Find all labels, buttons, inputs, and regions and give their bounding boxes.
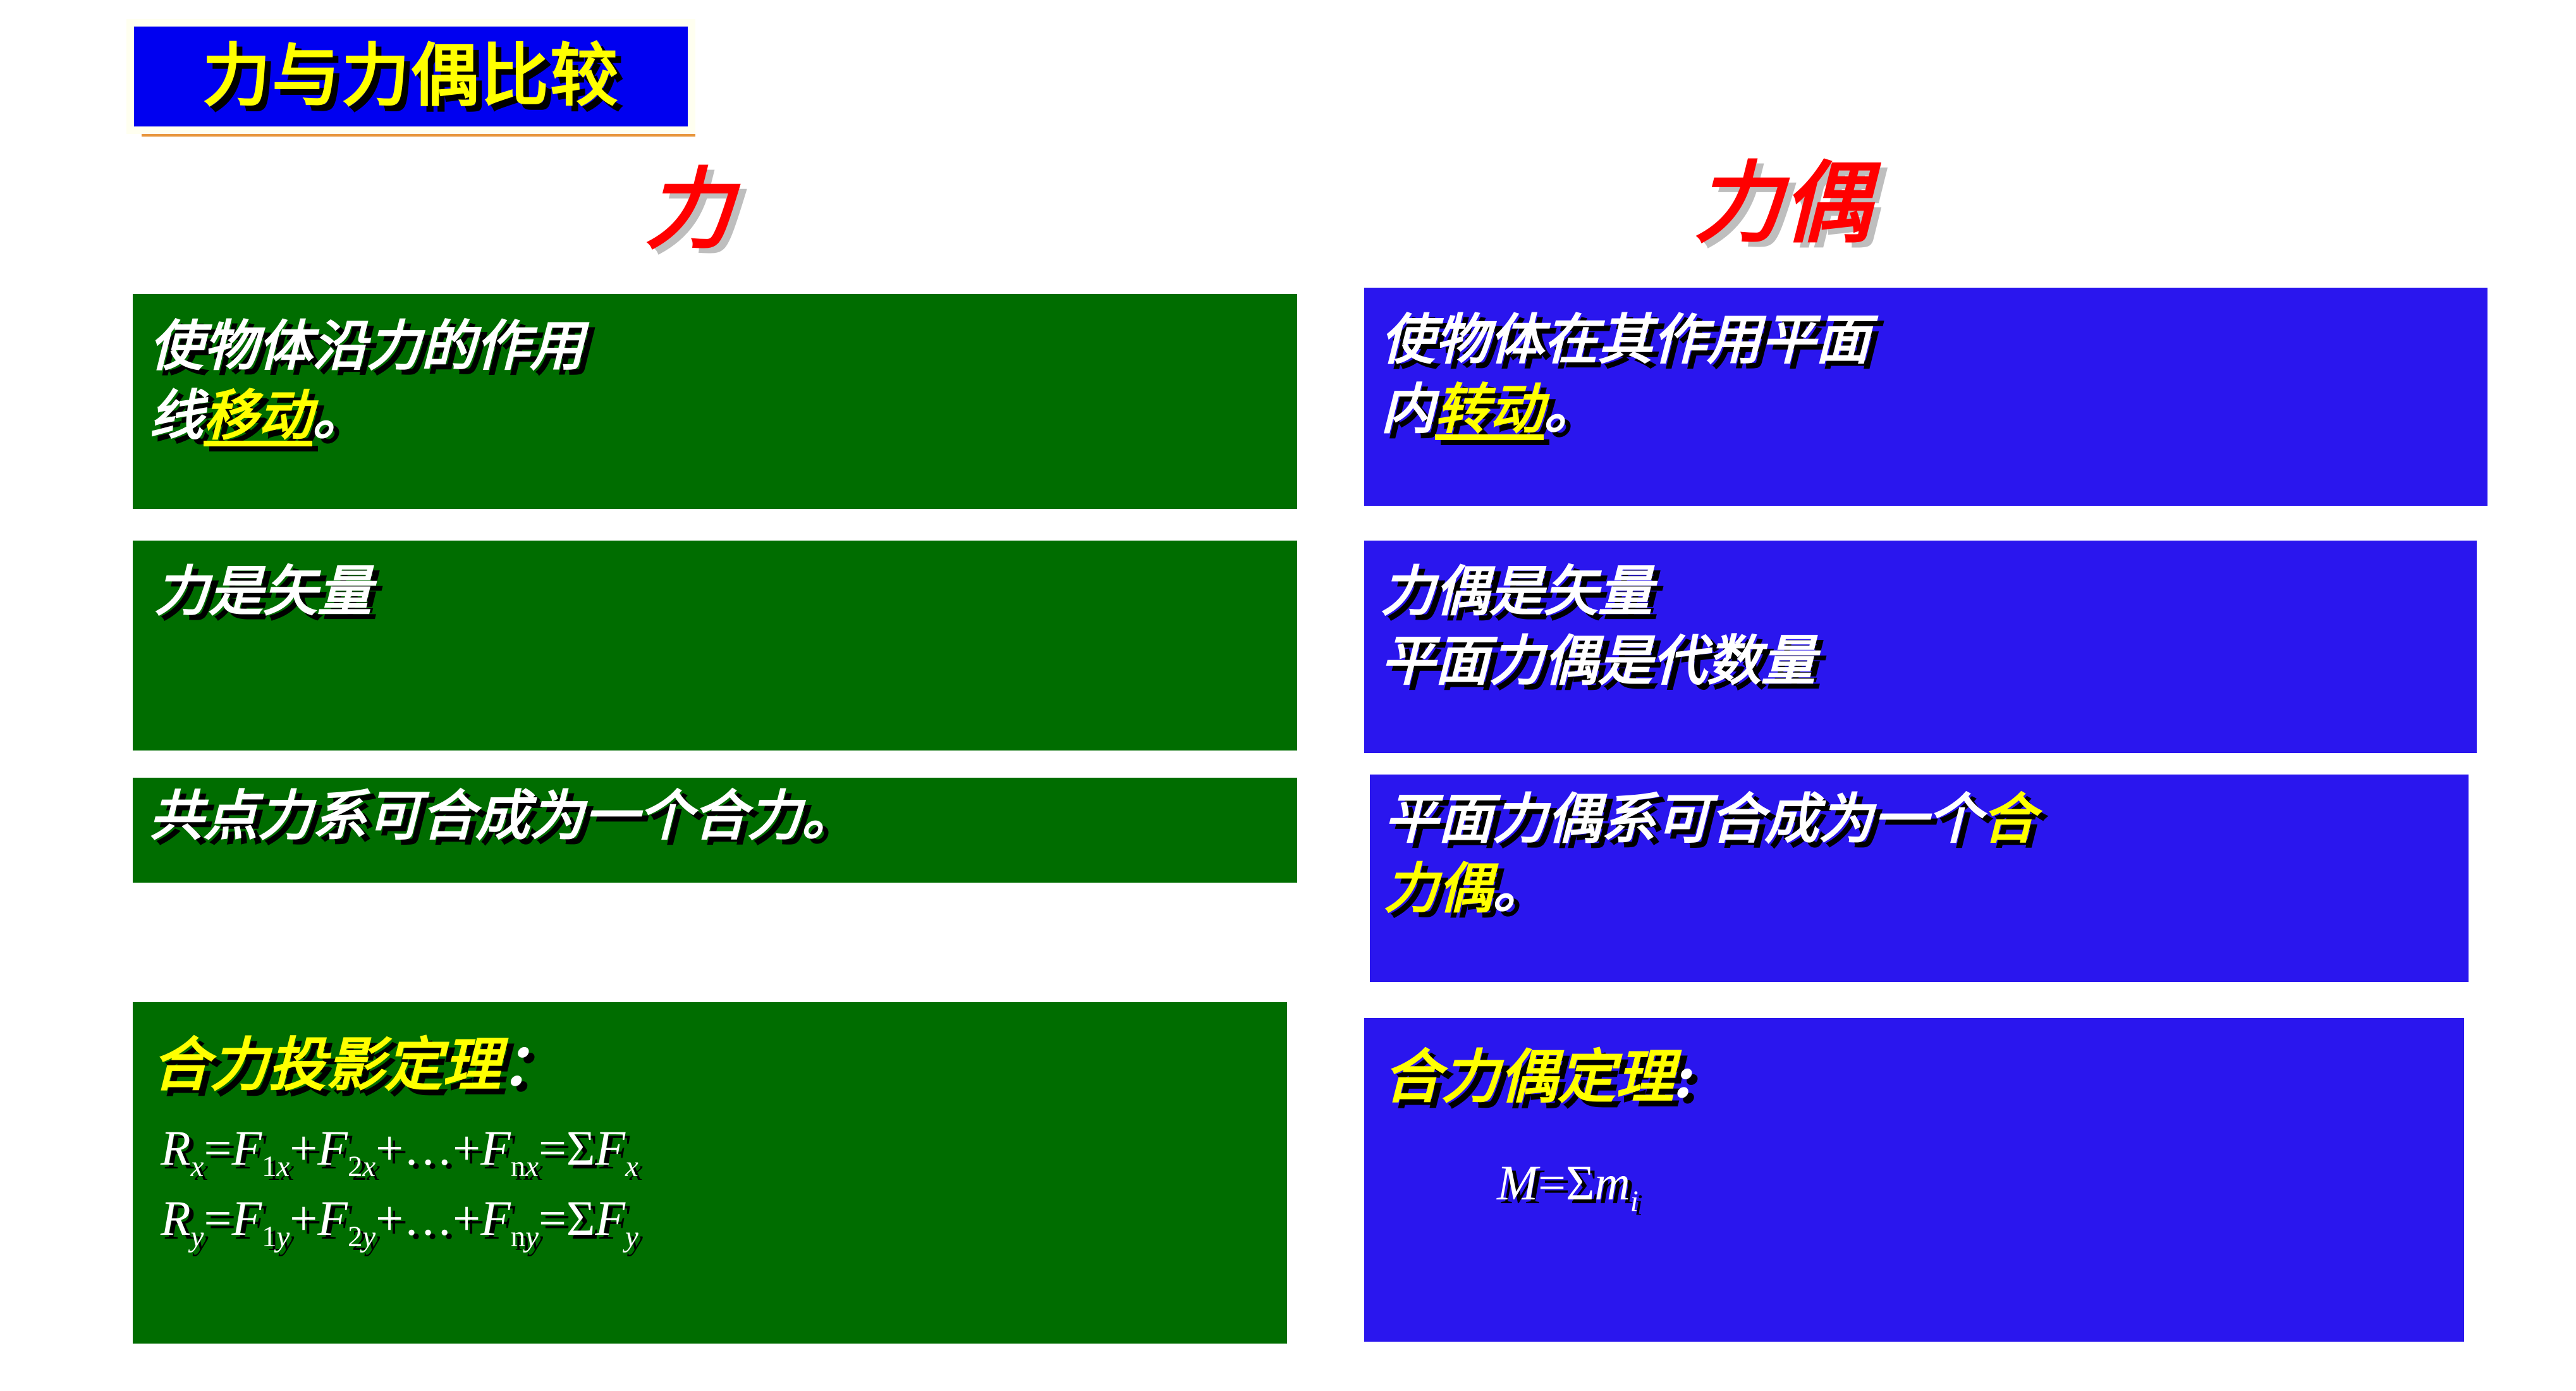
right-box-2-line-1: 力偶是矢量 bbox=[1381, 557, 2477, 627]
right-box-4-heading: 合力偶定理: bbox=[1383, 1042, 2464, 1112]
right-box-3-line-2-suffix: 。 bbox=[1492, 857, 1547, 921]
formula2-rhs-sub: y bbox=[625, 1220, 638, 1253]
page-title: 力与力偶比较 bbox=[202, 42, 620, 111]
left-box-2: 力是矢量 bbox=[133, 541, 1297, 751]
formula2-sigma: Σ bbox=[566, 1191, 595, 1246]
left-box-4-formula-1: Rx=F1x+F2x+…+Fnx=ΣFx bbox=[161, 1116, 1287, 1186]
formula3-sigma: Σ bbox=[1566, 1155, 1594, 1210]
right-box-4: 合力偶定理: M=Σmi bbox=[1364, 1018, 2464, 1342]
right-box-4-heading-colon: : bbox=[1674, 1043, 1695, 1111]
formula2-rhs: F bbox=[595, 1191, 625, 1246]
formula3-eq: = bbox=[1538, 1155, 1566, 1210]
left-box-1-line-2-prefix: 线 bbox=[149, 384, 204, 448]
left-box-4-formula-2: Ry=F1y+F2y+…+Fny=ΣFy bbox=[161, 1186, 1287, 1256]
left-box-3-line-1: 共点力系可合成为一个合力。 bbox=[149, 781, 1297, 851]
formula1-sigma: Σ bbox=[566, 1120, 595, 1175]
formula2-tn: F bbox=[480, 1191, 511, 1246]
formula1-tn: F bbox=[480, 1120, 511, 1175]
formula2-lhs-sub: y bbox=[191, 1220, 204, 1253]
right-box-2-line-2: 平面力偶是代数量 bbox=[1381, 627, 2477, 696]
formula1-t2: F bbox=[317, 1120, 348, 1175]
slide-canvas: 力与力偶比较 力 力偶 使物体沿力的作用 线移动。 力是矢量 共点力系可合成为一… bbox=[0, 0, 2576, 1391]
formula3-lhs: M bbox=[1497, 1155, 1538, 1210]
right-box-1-line-1: 使物体在其作用平面 bbox=[1381, 305, 2487, 375]
right-box-1-line-2-prefix: 内 bbox=[1381, 377, 1435, 441]
formula1-rhs-sub: x bbox=[625, 1150, 638, 1183]
formula2-lhs: R bbox=[161, 1191, 191, 1246]
formula1-lhs: R bbox=[161, 1120, 191, 1175]
formula1-t1: F bbox=[231, 1120, 262, 1175]
left-box-2-line-1: 力是矢量 bbox=[154, 557, 1297, 627]
formula1-rhs: F bbox=[595, 1120, 625, 1175]
column-heading-couple: 力偶 bbox=[1694, 159, 1871, 248]
formula2-ellipsis: … bbox=[403, 1191, 453, 1246]
right-box-2: 力偶是矢量 平面力偶是代数量 bbox=[1364, 541, 2477, 753]
right-box-3-line-2: 力偶。 bbox=[1384, 854, 2469, 924]
left-box-3: 共点力系可合成为一个合力。 bbox=[133, 778, 1297, 883]
right-box-3: 平面力偶系可合成为一个合 力偶。 bbox=[1370, 775, 2469, 982]
right-box-1-line-2-suffix: 。 bbox=[1544, 377, 1598, 441]
left-box-4-heading: 合力投影定理： bbox=[152, 1030, 1287, 1100]
right-box-4-heading-text: 合力偶定理 bbox=[1383, 1043, 1674, 1111]
right-box-3-line-1-plain: 平面力偶系可合成为一个 bbox=[1384, 787, 1982, 851]
left-box-1: 使物体沿力的作用 线移动。 bbox=[133, 294, 1297, 509]
right-box-3-line-1: 平面力偶系可合成为一个合 bbox=[1384, 785, 2469, 854]
right-box-1-line-2: 内转动。 bbox=[1381, 375, 2487, 444]
right-box-1-highlight: 转动 bbox=[1435, 377, 1544, 441]
formula2-t1: F bbox=[231, 1191, 262, 1246]
formula2-t2: F bbox=[317, 1191, 348, 1246]
left-box-4-heading-text: 合力投影定理 bbox=[152, 1031, 501, 1099]
formula1-lhs-sub: x bbox=[191, 1150, 204, 1183]
left-box-1-line-2: 线移动。 bbox=[149, 381, 1297, 451]
left-box-1-line-2-suffix: 。 bbox=[312, 384, 367, 448]
formula1-ellipsis: … bbox=[403, 1120, 453, 1175]
formula3-sym: m bbox=[1594, 1155, 1630, 1210]
right-box-1: 使物体在其作用平面 内转动。 bbox=[1364, 288, 2487, 506]
left-box-1-highlight: 移动 bbox=[204, 384, 312, 448]
left-box-1-line-1: 使物体沿力的作用 bbox=[149, 312, 1297, 381]
formula3-sub: i bbox=[1630, 1185, 1639, 1218]
right-box-3-line-2-highlight: 力偶 bbox=[1384, 857, 1492, 921]
right-box-3-line-1-highlight: 合 bbox=[1982, 787, 2036, 851]
title-box: 力与力偶比较 bbox=[134, 27, 688, 126]
column-heading-force: 力 bbox=[645, 166, 733, 254]
left-box-4-heading-colon: ： bbox=[501, 1031, 559, 1099]
right-box-4-formula: M=Σmi bbox=[1497, 1151, 2464, 1221]
left-box-4: 合力投影定理： Rx=F1x+F2x+…+Fnx=ΣFx Ry=F1y+F2y+… bbox=[133, 1002, 1287, 1344]
